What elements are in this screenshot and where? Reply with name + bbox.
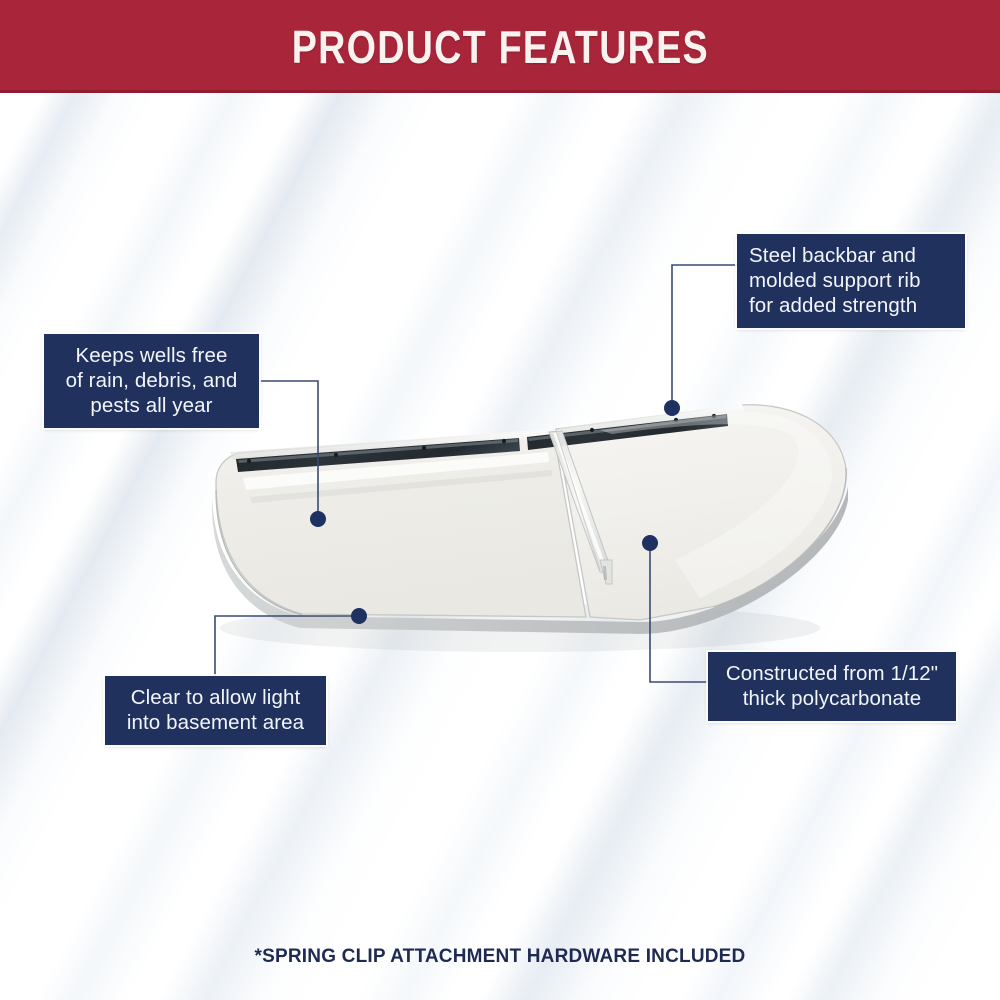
dot-clear-to-allow-light [351, 608, 367, 624]
callout-line: thick polycarbonate [720, 686, 944, 711]
page-title: PRODUCT FEATURES [291, 20, 708, 74]
dot-steel-backbar [664, 400, 680, 416]
callout-line: Steel backbar and [749, 243, 953, 268]
connector-clear-to-allow-light [215, 616, 356, 676]
footer-note-container: *SPRING CLIP ATTACHMENT HARDWARE INCLUDE… [0, 946, 1000, 968]
callout-connectors [0, 0, 1000, 1000]
callout-line: Keeps wells free [56, 343, 247, 368]
callout-line: pests all year [56, 393, 247, 418]
callout-keeps-wells-free[interactable]: Keeps wells free of rain, debris, and pe… [44, 334, 259, 428]
callout-constructed-polycarbonate[interactable]: Constructed from 1/12" thick polycarbona… [708, 652, 956, 721]
dot-keeps-wells-free [310, 511, 326, 527]
infographic-canvas: PRODUCT FEATURES [0, 0, 1000, 1000]
callout-line: Clear to allow light [117, 685, 314, 710]
connector-constructed-polycarbonate [650, 548, 708, 682]
header-banner: PRODUCT FEATURES [0, 0, 1000, 93]
callout-clear-to-allow-light[interactable]: Clear to allow light into basement area [105, 676, 326, 745]
callout-line: molded support rib [749, 268, 953, 293]
callout-line: for added strength [749, 293, 953, 318]
callout-line: into basement area [117, 710, 314, 735]
connector-dots [310, 400, 680, 624]
connector-steel-backbar [672, 265, 737, 401]
callout-line: of rain, debris, and [56, 368, 247, 393]
callout-steel-backbar[interactable]: Steel backbar and molded support rib for… [737, 234, 965, 328]
callout-line: Constructed from 1/12" [720, 661, 944, 686]
connector-keeps-wells-free [259, 381, 318, 512]
footer-note: *SPRING CLIP ATTACHMENT HARDWARE INCLUDE… [0, 946, 1000, 968]
dot-constructed-polycarbonate [642, 535, 658, 551]
